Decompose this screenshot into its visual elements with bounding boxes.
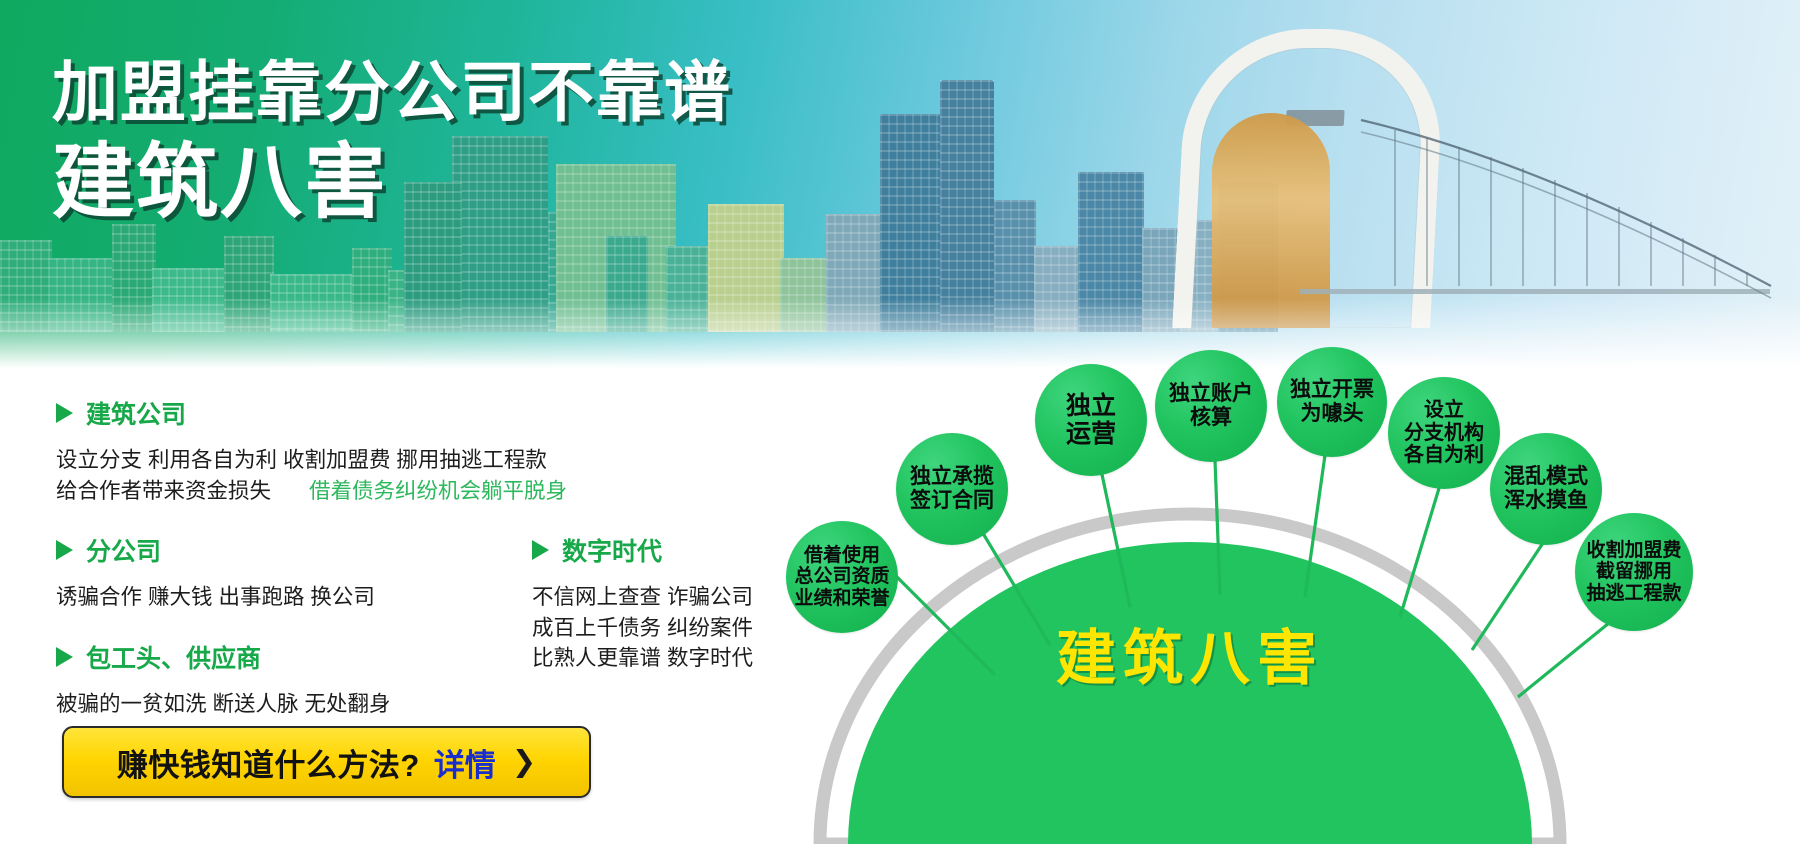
hero-title-block: 加盟挂靠分公司不靠谱 建筑八害 <box>52 58 732 227</box>
left-content-column: 建筑公司 设立分支 利用各自为利 收割加盟费 挪用抽逃工程款 给合作者带来资金损… <box>56 395 816 745</box>
bubble-line: 截留挪用 <box>1596 561 1672 582</box>
body-line-highlight: 借着债务纠纷机会躺平脱身 <box>309 479 567 503</box>
body-line: 被骗的一贫如洗 断送人脉 无处翻身 <box>56 689 532 720</box>
hero-title-line-2: 建筑八害 <box>52 140 732 227</box>
bubble-line: 为噱头 <box>1301 402 1364 425</box>
bubble-line: 混乱模式 <box>1504 465 1588 488</box>
triangle-bullet-icon <box>56 540 73 560</box>
section-heading-digital-era: 数字时代 <box>532 532 816 568</box>
poster-root: 加盟挂靠分公司不靠谱 建筑八害 建筑公司 设立分支 利用各自为利 收割加盟费 挪… <box>0 0 1800 844</box>
section-body-digital-era: 不信网上查查 诈骗公司 成百上千债务 纠纷案件 比熟人更靠谱 数字时代 <box>532 582 816 674</box>
body-line: 不信网上查查 诈骗公司 <box>532 582 816 613</box>
cta-question-text: 赚快钱知道什么方法? <box>117 740 420 785</box>
section-branch-company: 分公司 诱骗合作 赚大钱 出事跑路 换公司 <box>56 532 532 613</box>
bubble-independent-account[interactable]: 独立账户 核算 <box>1155 350 1267 462</box>
bubble-line: 独立 <box>1066 392 1116 420</box>
bubble-line: 独立开票 <box>1290 378 1374 401</box>
bubble-branch-setup[interactable]: 设立 分支机构 各自为利 <box>1388 377 1500 489</box>
bubble-line: 运营 <box>1066 420 1116 448</box>
bridge-arch-inner <box>1212 113 1330 328</box>
bubble-line: 独立承揽 <box>910 465 994 488</box>
body-line-dark: 给合作者带来资金损失 <box>56 479 271 503</box>
section-digital-era: 数字时代 不信网上查查 诈骗公司 成百上千债务 纠纷案件 比熟人更靠谱 数字时代 <box>532 532 816 674</box>
section-heading-branch-company: 分公司 <box>56 532 532 568</box>
bubble-line: 分支机构 <box>1404 422 1484 444</box>
section-body-construction-company: 设立分支 利用各自为利 收割加盟费 挪用抽逃工程款 给合作者带来资金损失 借着债… <box>56 445 816 506</box>
section-body-contractor-supplier: 被骗的一贫如洗 断送人脉 无处翻身 <box>56 689 532 720</box>
triangle-bullet-icon <box>56 647 73 667</box>
body-line: 给合作者带来资金损失 借着债务纠纷机会躺平脱身 <box>56 476 816 507</box>
hero-title-line-1: 加盟挂靠分公司不靠谱 <box>52 58 732 128</box>
body-line: 诱骗合作 赚大钱 出事跑路 换公司 <box>56 582 532 613</box>
section-body-branch-company: 诱骗合作 赚大钱 出事跑路 换公司 <box>56 582 532 613</box>
column-right: 数字时代 不信网上查查 诈骗公司 成百上千债务 纠纷案件 比熟人更靠谱 数字时代 <box>532 532 816 745</box>
section-title-text: 数字时代 <box>562 532 662 568</box>
bubble-independent-invoice[interactable]: 独立开票 为噱头 <box>1277 347 1387 457</box>
bubble-independent-contracting[interactable]: 独立承揽 签订合同 <box>896 433 1008 545</box>
two-column-sections: 分公司 诱骗合作 赚大钱 出事跑路 换公司 包工头、供应商 被骗的一贫如洗 断送… <box>56 532 816 745</box>
bubble-line: 收割加盟费 <box>1586 540 1681 561</box>
triangle-bullet-icon <box>532 540 549 560</box>
triangle-bullet-icon <box>56 403 73 423</box>
section-title-text: 建筑公司 <box>86 395 186 431</box>
dome-center-label: 建筑八害 <box>980 610 1400 697</box>
body-line: 比熟人更靠谱 数字时代 <box>532 643 816 674</box>
section-construction-company: 建筑公司 设立分支 利用各自为利 收割加盟费 挪用抽逃工程款 给合作者带来资金损… <box>56 395 816 506</box>
bubble-line: 各自为利 <box>1404 444 1484 466</box>
section-contractor-supplier: 包工头、供应商 被骗的一贫如洗 断送人脉 无处翻身 <box>56 639 532 720</box>
section-heading-contractor-supplier: 包工头、供应商 <box>56 639 532 675</box>
bubble-line: 设立 <box>1424 399 1464 421</box>
bubble-line: 抽逃工程款 <box>1586 583 1681 604</box>
cta-button[interactable]: 赚快钱知道什么方法? 详情 ❯ <box>62 726 591 798</box>
section-title-text: 分公司 <box>86 532 161 568</box>
bubble-line: 浑水摸鱼 <box>1504 489 1588 512</box>
cta-detail-link[interactable]: 详情 <box>434 740 496 785</box>
chevron-right-icon: ❯ <box>512 748 536 777</box>
bridge-cables <box>1355 114 1775 324</box>
body-line: 成百上千债务 纠纷案件 <box>532 613 816 644</box>
bubble-line: 核算 <box>1190 406 1232 429</box>
bubble-line: 独立账户 <box>1169 382 1253 405</box>
bubble-line: 签订合同 <box>910 489 994 512</box>
body-line: 设立分支 利用各自为利 收割加盟费 挪用抽逃工程款 <box>56 445 816 476</box>
hero-banner: 加盟挂靠分公司不靠谱 建筑八害 <box>0 0 1800 368</box>
bubble-independent-operation[interactable]: 独立 运营 <box>1035 364 1147 476</box>
column-left: 分公司 诱骗合作 赚大钱 出事跑路 换公司 包工头、供应商 被骗的一贫如洗 断送… <box>56 532 532 745</box>
bubble-diagram: 建筑八害 借着使用 总公司资质 业绩和荣誉 独立承揽 签订合同 独立 运营 独立… <box>800 345 1800 844</box>
bubble-franchise-fee[interactable]: 收割加盟费 截留挪用 抽逃工程款 <box>1575 513 1693 631</box>
bubble-chaotic-mode[interactable]: 混乱模式 浑水摸鱼 <box>1490 433 1602 545</box>
section-title-text: 包工头、供应商 <box>86 639 261 675</box>
section-heading-construction-company: 建筑公司 <box>56 395 816 431</box>
bridge-illustration <box>1150 38 1770 328</box>
